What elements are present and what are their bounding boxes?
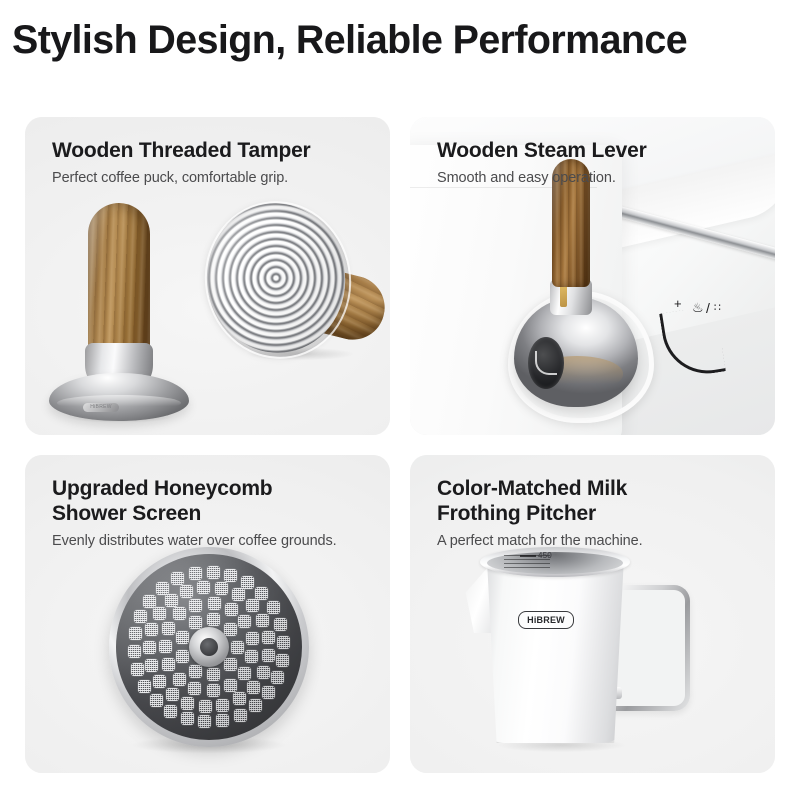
honeycomb-hole	[197, 581, 210, 594]
milk-pitcher: 450 HiBREW	[462, 539, 712, 751]
honeycomb-hole	[189, 616, 202, 629]
honeycomb-hole	[199, 700, 212, 713]
honeycomb-hole	[249, 699, 262, 712]
honeycomb-hole	[134, 610, 147, 623]
honeycomb-hole	[225, 603, 238, 616]
card-subtitle: Perfect coffee puck, comfortable grip.	[52, 170, 311, 186]
honeycomb-hole	[234, 709, 247, 722]
tamper-upright: HiBREW	[49, 203, 189, 413]
honeycomb-hole	[262, 649, 275, 662]
honeycomb-hole	[180, 585, 193, 598]
honeycomb-hole	[198, 715, 211, 728]
card-subtitle: Smooth and easy operation.	[437, 170, 647, 186]
honeycomb-hole	[233, 692, 246, 705]
card-title: Upgraded Honeycomb Shower Screen	[52, 477, 337, 527]
honeycomb-hole	[262, 686, 275, 699]
card-title: Wooden Threaded Tamper	[52, 139, 311, 164]
honeycomb-hole	[271, 671, 284, 684]
feature-card-honeycomb-shower-screen[interactable]: Upgraded Honeycomb Shower Screen Evenly …	[25, 455, 390, 773]
card-text-block: Color-Matched Milk Frothing Pitcher A pe…	[437, 477, 643, 549]
control-arc-icon	[659, 305, 726, 380]
pitcher-volume-label: 450	[538, 551, 552, 560]
honeycomb-hole	[232, 588, 245, 601]
honeycomb-hole	[143, 595, 156, 608]
feature-card-grid: HiBREW Wooden Threaded Tamper Perfect co…	[25, 117, 775, 773]
honeycomb-hole	[207, 684, 220, 697]
honeycomb-hole	[246, 632, 259, 645]
feature-card-wooden-steam-lever[interactable]: + ♨ / ∷ Wooden Steam Lever Smooth and ea…	[410, 117, 775, 435]
honeycomb-hole	[145, 623, 158, 636]
shower-screen	[109, 547, 309, 747]
product-feature-grid: Stylish Design, Reliable Performance HiB…	[0, 0, 800, 800]
honeycomb-hole	[241, 576, 254, 589]
card-text-block: Wooden Steam Lever Smooth and easy opera…	[437, 139, 647, 186]
honeycomb-hole	[224, 623, 237, 636]
page-title: Stylish Design, Reliable Performance	[12, 18, 687, 63]
steam-control-markings: + ♨ / ∷	[658, 295, 768, 375]
honeycomb-hole	[173, 607, 186, 620]
honeycomb-hole	[162, 622, 175, 635]
honeycomb-hole	[216, 714, 229, 727]
honeycomb-hole	[189, 665, 202, 678]
card-text-block: Wooden Threaded Tamper Perfect coffee pu…	[52, 139, 311, 186]
honeycomb-hole	[164, 705, 177, 718]
pitcher-volume-line	[520, 555, 536, 557]
honeycomb-hole	[153, 675, 166, 688]
card-text-block: Upgraded Honeycomb Shower Screen Evenly …	[52, 477, 337, 549]
card-subtitle: A perfect match for the machine.	[437, 533, 643, 549]
honeycomb-hole	[143, 641, 156, 654]
card-title: Color-Matched Milk Frothing Pitcher	[437, 477, 643, 527]
honeycomb-hole	[153, 607, 166, 620]
honeycomb-hole	[131, 663, 144, 676]
honeycomb-hole	[257, 666, 270, 679]
honeycomb-hole	[277, 636, 290, 649]
card-title: Wooden Steam Lever	[437, 139, 647, 164]
honeycomb-hole	[231, 641, 244, 654]
honeycomb-hole	[150, 694, 163, 707]
honeycomb-hole	[207, 566, 220, 579]
honeycomb-hole	[255, 587, 268, 600]
card-subtitle: Evenly distributes water over coffee gro…	[52, 533, 337, 549]
honeycomb-hole	[238, 667, 251, 680]
honeycomb-hole	[162, 658, 175, 671]
tamper-steel-base	[49, 373, 189, 421]
pitcher-brand-badge: HiBREW	[518, 611, 574, 629]
tamper-engraved-logo: HiBREW	[83, 403, 119, 412]
steam-lever[interactable]	[518, 147, 658, 407]
honeycomb-hole	[224, 679, 237, 692]
honeycomb-hole	[138, 680, 151, 693]
honeycomb-hole	[129, 627, 142, 640]
honeycomb-hole	[247, 681, 260, 694]
honeycomb-hole	[181, 712, 194, 725]
honeycomb-hole	[208, 597, 221, 610]
pitcher-body	[484, 557, 624, 743]
honeycomb-hole	[189, 599, 202, 612]
honeycomb-hole	[276, 654, 289, 667]
honeycomb-hole	[274, 618, 287, 631]
feature-card-milk-frothing-pitcher[interactable]: 450 HiBREW Color-Matched Milk Frothing P…	[410, 455, 775, 773]
slash-divider-icon: /	[706, 301, 710, 315]
honeycomb-hole	[256, 614, 269, 627]
honeycomb-hole	[215, 582, 228, 595]
honeycomb-hole	[176, 650, 189, 663]
steam-icon: ♨	[692, 301, 704, 314]
honeycomb-hole	[188, 682, 201, 695]
shower-screen-center-hole	[189, 627, 229, 667]
honeycomb-hole	[189, 567, 202, 580]
honeycomb-hole	[181, 697, 194, 710]
plus-icon: +	[674, 297, 682, 310]
honeycomb-hole	[207, 613, 220, 626]
honeycomb-hole	[246, 599, 259, 612]
steam-valve-dial[interactable]	[528, 337, 564, 389]
honeycomb-hole	[165, 594, 178, 607]
honeycomb-hole	[224, 658, 237, 671]
honeycomb-hole	[238, 615, 251, 628]
honeycomb-hole	[159, 640, 172, 653]
tamper-on-side	[203, 195, 383, 375]
honeycomb-hole	[216, 699, 229, 712]
water-drops-icon: ∷	[714, 303, 721, 314]
honeycomb-hole	[173, 673, 186, 686]
honeycomb-hole	[262, 631, 275, 644]
honeycomb-hole	[224, 569, 237, 582]
tamper-wood-handle	[88, 203, 150, 358]
honeycomb-hole	[171, 572, 184, 585]
honeycomb-hole	[166, 688, 179, 701]
honeycomb-hole	[145, 659, 158, 672]
tamper-base-rim	[192, 190, 363, 371]
honeycomb-hole	[176, 631, 189, 644]
feature-card-wooden-threaded-tamper[interactable]: HiBREW Wooden Threaded Tamper Perfect co…	[25, 117, 390, 435]
honeycomb-hole	[267, 601, 280, 614]
honeycomb-hole	[245, 650, 258, 663]
honeycomb-hole	[128, 645, 141, 658]
honeycomb-hole	[207, 668, 220, 681]
honeycomb-hole	[156, 582, 169, 595]
